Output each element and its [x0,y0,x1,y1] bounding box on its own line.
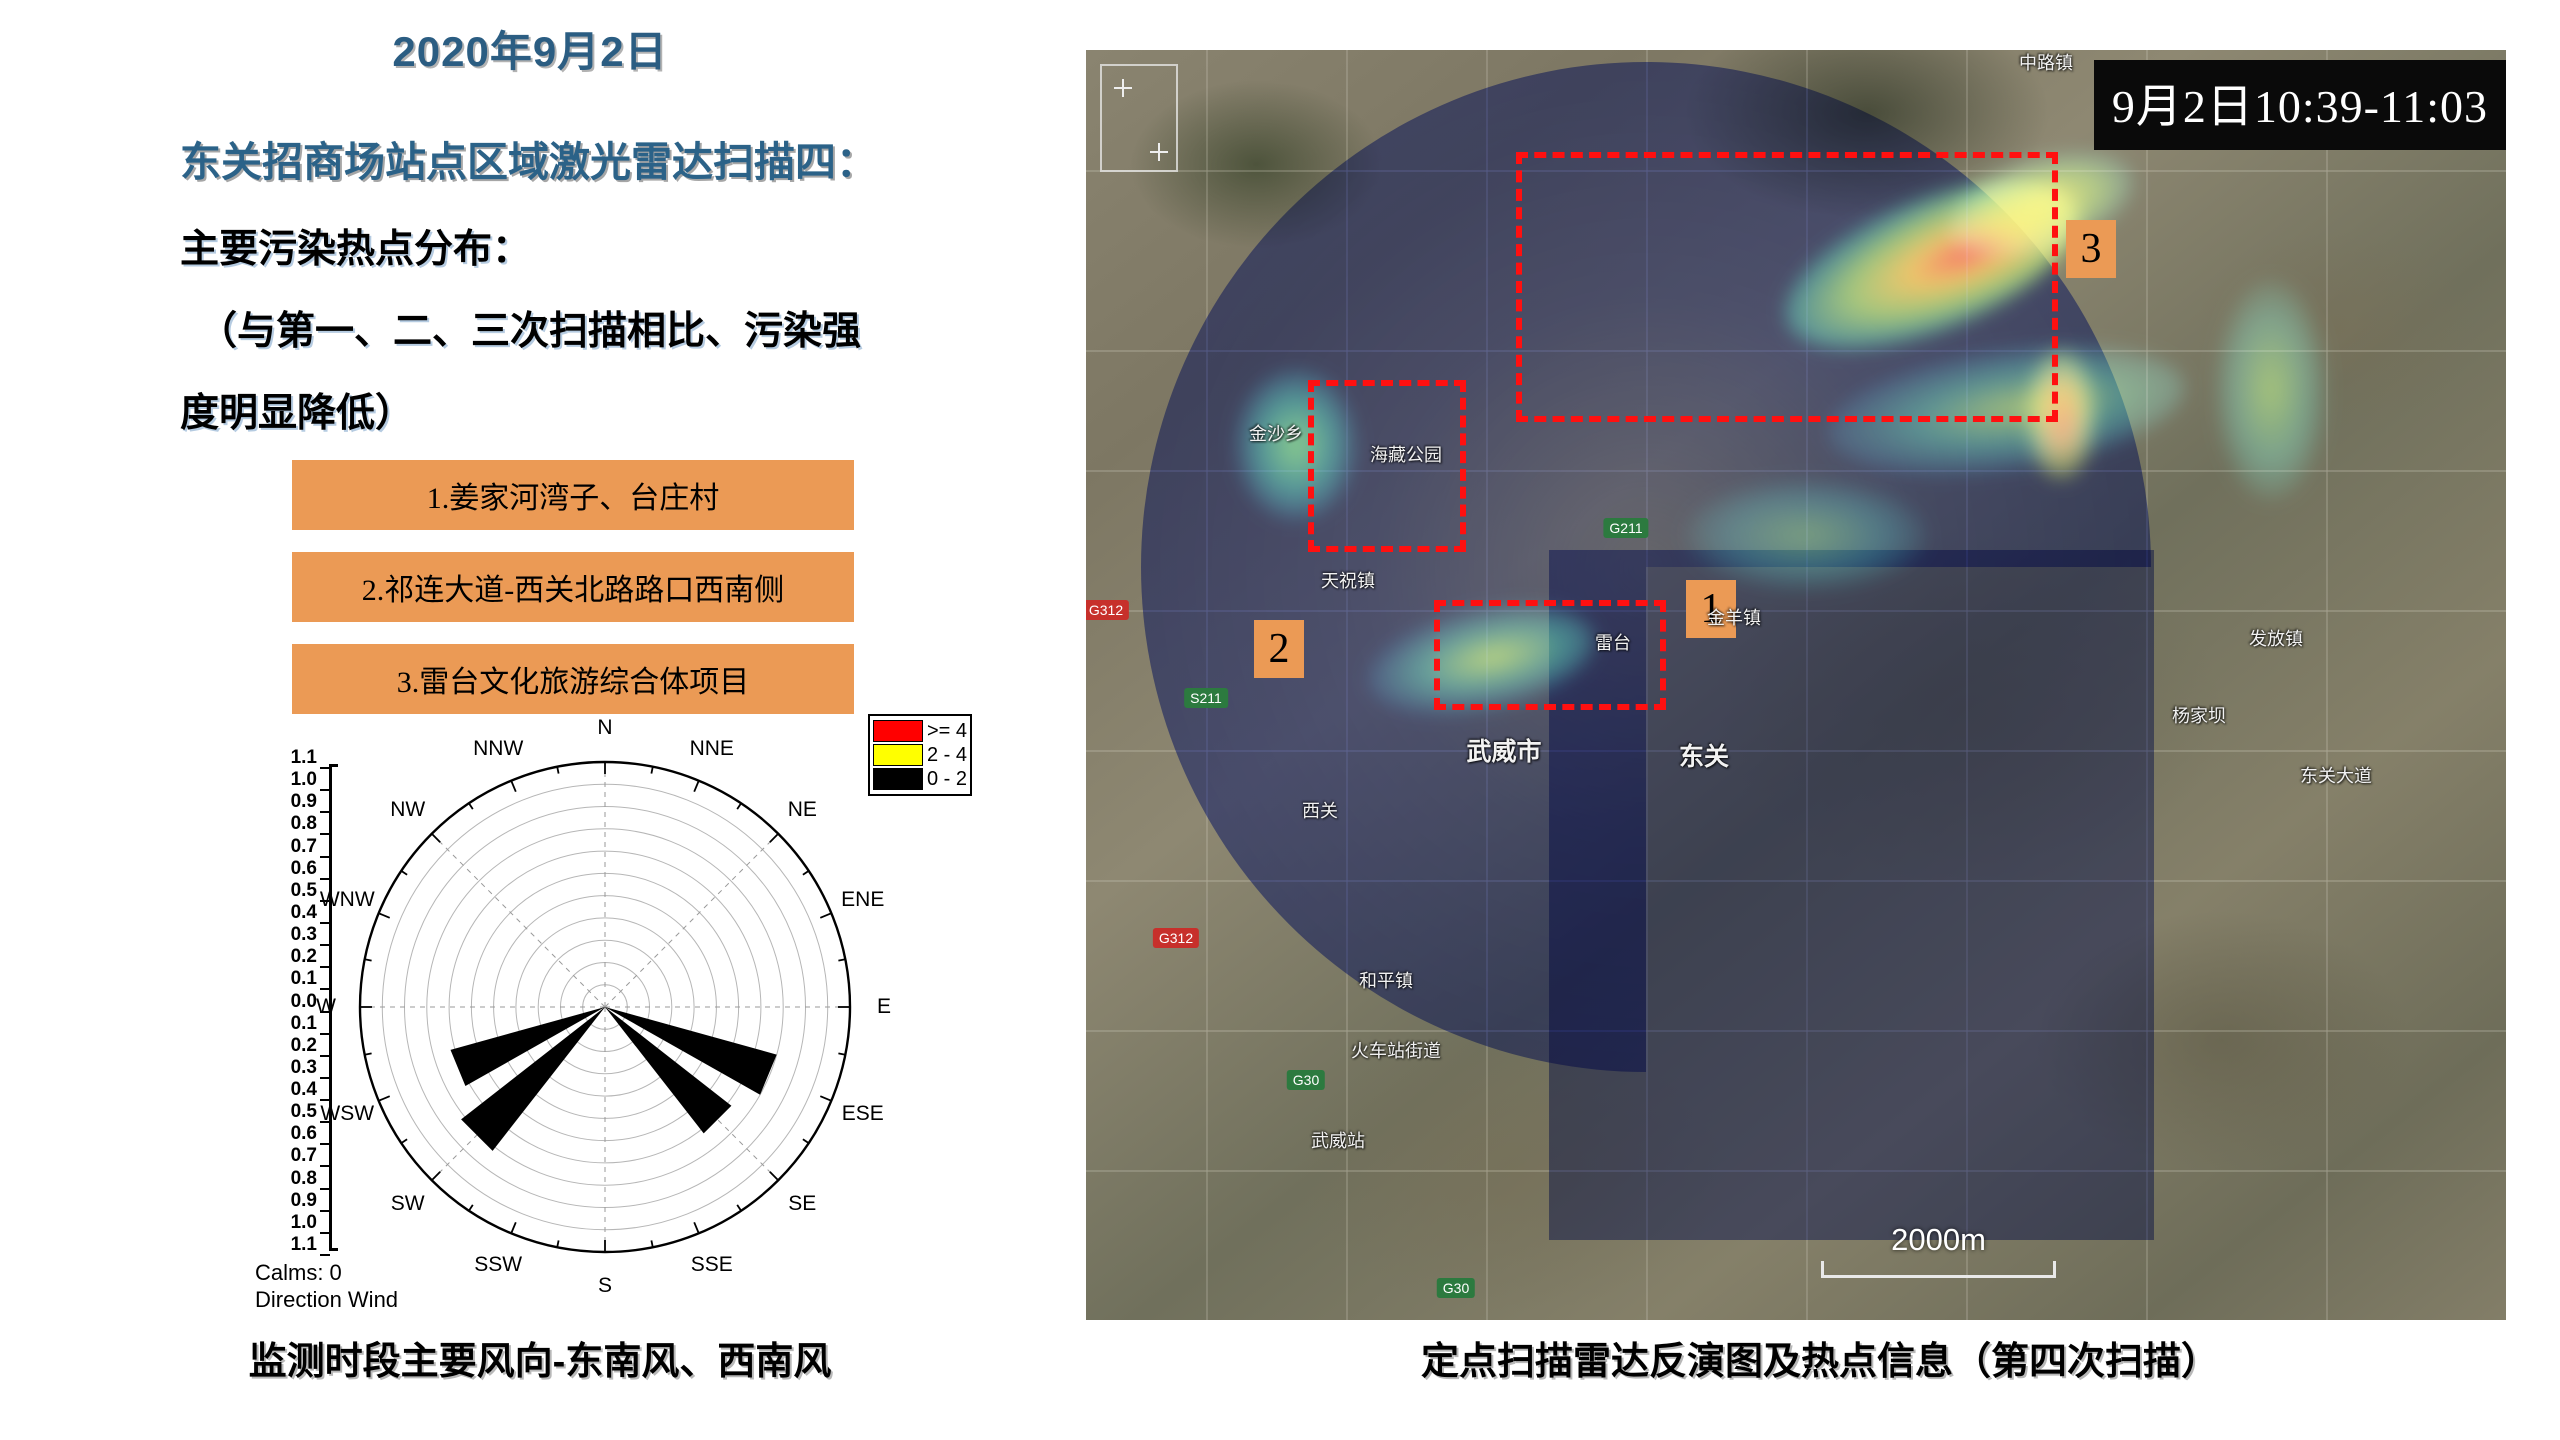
wind-rose-tick-mark [320,1033,330,1035]
wind-rose-tick-label: 1.1 [257,1234,317,1256]
road-shield-g30-west: G30 [1287,1070,1325,1090]
map-poi-leitai: 雷台 [1595,629,1631,655]
wind-rose-tick-mark [320,1188,330,1190]
wind-rose-tick-mark [320,856,330,858]
road-shield-g30-south: G30 [1437,1278,1475,1298]
plume-south-mid [1686,480,1926,590]
legend-entry: 2 - 4 [873,743,967,767]
wind-rose-tick-label: 1.0 [257,1212,317,1234]
wind-rose-tick-label: 0.3 [257,924,317,946]
wind-rose-compass-label: ENE [841,888,884,912]
legend-label: 0 - 2 [927,768,967,791]
plume-east-edge [2216,280,2326,500]
map-poi-haizanggongyuan: 海藏公园 [1370,441,1442,467]
hotspot-list-item-2[interactable]: 2.祁连大道-西关北路路口西南侧 [292,552,854,622]
map-poi-fafangzhen: 发放镇 [2249,625,2303,651]
map-poi-hepingzhen: 和平镇 [1359,967,1413,993]
left-figure-caption: 监测时段主要风向-东南风、西南风 [0,1330,1080,1385]
wind-rose-tick-label: 0.4 [257,1079,317,1101]
radar-map-figure[interactable]: 3 2 1 金沙乡 海藏公园 天祝镇 雷台 金羊镇 杨家坝 武威市 东关 西关 … [1086,50,2506,1320]
wind-rose-tick-label: 0.4 [257,902,317,924]
body-paragraph-3: 度明显降低） [180,382,414,438]
wind-rose-chart: 1.11.00.90.80.70.60.50.40.30.20.10.00.10… [255,748,875,1308]
wind-speed-legend: >= 42 - 40 - 2 [868,714,972,796]
body-paragraph-2: （与第一、二、三次扫描相比、污染强 [198,300,861,356]
legend-swatch [873,768,923,790]
wind-rose-tick-label: 1.1 [257,747,317,769]
wind-rose-tick-mark [320,1143,330,1145]
wind-rose-tick-label: 0.1 [257,968,317,990]
hotspot-list-item-1[interactable]: 1.姜家河湾子、台庄村 [292,460,854,530]
page-subtitle: 东关招商场站点区域激光雷达扫描四： [180,128,1040,188]
wind-rose-compass-label: SSE [691,1253,733,1277]
road-shield-g312-west: G312 [1086,600,1129,620]
map-poi-tianzhuzhen: 天祝镇 [1321,567,1375,593]
legend-label: 2 - 4 [927,744,967,767]
legend-swatch [873,720,923,742]
hotspot-outline-1 [1434,600,1666,710]
map-poi-huochezhan-jiedao: 火车站街道 [1351,1037,1441,1063]
map-crosshair-marker [1100,64,1178,172]
map-poi-xiguan: 西关 [1302,797,1338,823]
road-shield-g211: G211 [1603,518,1648,538]
wind-rose-calms-text: Calms: 0 Direction Wind [255,1260,398,1314]
map-marker-2[interactable]: 2 [1254,620,1304,678]
left-info-panel: 2020年9月2日 东关招商场站点区域激光雷达扫描四： 主要污染热点分布： （与… [0,0,1080,1440]
body-paragraph-1: 主要污染热点分布： [180,218,531,274]
wind-rose-tick-mark [320,1254,330,1256]
wind-rose-tick-label: 0.1 [257,1013,317,1035]
wind-rose-tick-label: 0.8 [257,1168,317,1190]
wind-rose-tick-label: 0.7 [257,836,317,858]
legend-label: >= 4 [927,720,967,743]
map-poi-wuweishi: 武威市 [1466,732,1541,768]
wind-rose-tick-label: 0.3 [257,1057,317,1079]
road-shield-s211: S211 [1184,688,1228,708]
wind-rose-tick-label: 0.7 [257,1145,317,1167]
map-poi-zhongludzhen: 中路镇 [2019,50,2073,75]
wind-rose-compass-label: E [877,995,891,1019]
map-poi-wuweizhan: 武威站 [1311,1127,1365,1153]
map-poi-yangjiaba: 杨家坝 [2172,702,2226,728]
wind-rose-tick-label: 0.2 [257,946,317,968]
wind-rose-compass-label: SW [391,1192,425,1216]
wind-rose-tick-label: 0.6 [257,858,317,880]
wind-rose-compass-label: NNW [473,737,523,761]
legend-swatch [873,744,923,766]
map-scalebar: 2000m [1821,1261,2056,1278]
wind-rose-tick-mark [320,878,330,880]
wind-rose-tick-mark [320,944,330,946]
wind-rose-compass-label: ESE [842,1102,884,1126]
wind-rose-compass-label: NE [788,798,817,822]
wind-rose-tick-mark [320,966,330,968]
wind-rose-tick-label: 0.6 [257,1123,317,1145]
wind-rose-tick-mark [320,789,330,791]
wind-rose-tick-mark [320,1055,330,1057]
wind-rose-compass-label: SSW [474,1253,522,1277]
map-scalebar-line [1821,1261,2056,1278]
map-poi-dongguan: 东关 [1679,737,1729,773]
map-poi-dongguandadao: 东关大道 [2300,762,2372,788]
wind-rose-tick-label: 0.5 [257,1101,317,1123]
wind-rose-tick-mark [320,811,330,813]
wind-rose-tick-mark [320,1099,330,1101]
wind-rose-tick-label: 0.9 [257,791,317,813]
map-poi-jinshaxiang: 金沙乡 [1249,420,1303,446]
road-shield-g312-south: G312 [1153,928,1199,948]
hotspot-outline-3 [1516,152,2058,422]
wind-rose-tick-mark [320,833,330,835]
map-poi-jinyangzhen: 金羊镇 [1707,604,1761,630]
map-scalebar-label: 2000m [1891,1222,1986,1258]
wind-rose-compass-label: N [597,716,612,740]
wind-rose-tick-mark [320,1077,330,1079]
wind-rose-tick-mark [320,988,330,990]
wind-rose-compass-label: S [598,1274,612,1298]
wind-rose-compass-label: NW [390,798,425,822]
hotspot-list-item-3[interactable]: 3.雷台文化旅游综合体项目 [292,644,854,714]
wind-rose-tick-mark [320,1165,330,1167]
wind-rose-tick-mark [320,1232,330,1234]
wind-rose-compass-label: WNW [320,888,375,912]
page-title: 2020年9月2日 [180,18,880,79]
scan-timestamp-badge: 9月2日10:39-11:03 [2094,60,2506,150]
wind-rose-compass-label: WSW [320,1102,374,1126]
right-figure-caption: 定点扫描雷达反演图及热点信息（第四次扫描） [1080,1330,2560,1385]
wind-rose-tick-label: 0.2 [257,1035,317,1057]
legend-entry: >= 4 [873,719,967,743]
wind-rose-tick-mark [320,1210,330,1212]
wind-rose-tick-label: 0.9 [257,1190,317,1212]
slide-root: 2020年9月2日 东关招商场站点区域激光雷达扫描四： 主要污染热点分布： （与… [0,0,2560,1440]
wind-rose-compass-label: SE [788,1192,816,1216]
wind-rose-tick-label: 0.8 [257,813,317,835]
wind-rose-plot [355,752,855,1262]
legend-entry: 0 - 2 [873,767,967,791]
map-marker-3[interactable]: 3 [2066,220,2116,278]
wind-rose-tick-mark [320,922,330,924]
wind-rose-tick-label: 1.0 [257,769,317,791]
wind-rose-compass-label: W [316,995,336,1019]
wind-rose-tick-mark [320,767,330,769]
wind-rose-tick-label: 0.5 [257,880,317,902]
wind-rose-tick-label: 0.0 [257,991,317,1013]
wind-rose-compass-label: NNE [690,737,734,761]
